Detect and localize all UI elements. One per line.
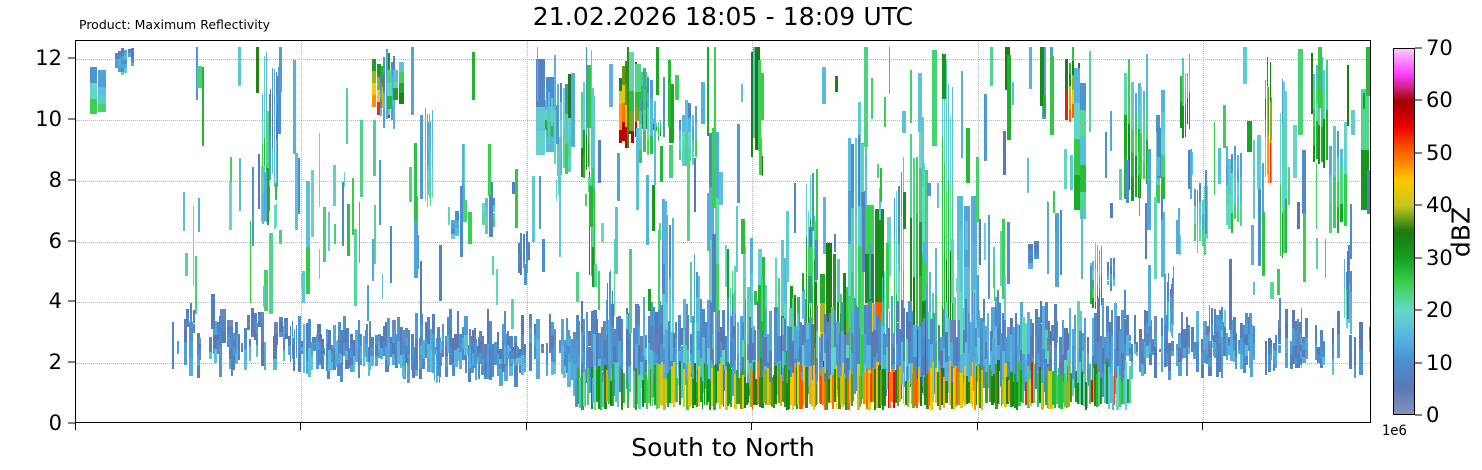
reflectivity-column [816,305,818,331]
reflectivity-column [1100,378,1102,404]
reflectivity-column [244,359,247,369]
reflectivity-column [899,366,901,402]
reflectivity-column [98,87,106,95]
reflectivity-column [1298,49,1303,135]
reflectivity-column [834,234,836,252]
reflectivity-column [1007,55,1011,140]
reflectivity-column [1034,252,1039,256]
reflectivity-column [546,365,548,376]
reflectivity-column [1270,282,1274,299]
reflectivity-column [507,338,510,345]
reflectivity-column [1140,133,1142,179]
reflectivity-column [663,201,667,264]
reflectivity-column [1028,256,1033,262]
reflectivity-column [367,285,368,321]
reflectivity-column [1107,262,1109,267]
reflectivity-column [669,225,672,279]
reflectivity-column [647,124,650,140]
reflectivity-column [822,67,826,104]
reflectivity-column [614,239,616,315]
reflectivity-column [264,172,267,221]
reflectivity-column [514,376,518,386]
reflectivity-column [335,354,337,367]
reflectivity-column [333,165,336,206]
reflectivity-column [1074,103,1079,139]
reflectivity-column [1359,349,1362,375]
reflectivity-column [279,317,283,322]
reflectivity-column [386,49,388,72]
reflectivity-column [457,311,459,324]
reflectivity-column [684,299,686,329]
reflectivity-column [568,330,570,338]
reflectivity-column [258,324,261,327]
reflectivity-column [1271,119,1272,140]
reflectivity-column [548,92,550,118]
reflectivity-column [546,354,548,365]
reflectivity-column [1161,133,1165,155]
reflectivity-column [283,326,285,338]
reflectivity-column [1171,346,1175,351]
reflectivity-column [554,329,556,340]
reflectivity-column [298,353,300,372]
reflectivity-column [663,77,666,137]
reflectivity-column [1234,190,1236,205]
reflectivity-column [402,366,405,378]
reflectivity-column [311,356,314,370]
reflectivity-column [239,158,241,211]
reflectivity-column [762,156,763,176]
reflectivity-column [1168,371,1170,380]
reflectivity-column [279,230,282,244]
reflectivity-column [293,346,295,354]
y-tick-mark [68,119,75,120]
reflectivity-column [635,64,641,78]
reflectivity-column [932,293,934,316]
reflectivity-column [1034,245,1039,249]
reflectivity-column [189,358,193,376]
reflectivity-column [1297,202,1300,229]
reflectivity-column [121,68,124,72]
reflectivity-column [675,75,679,100]
reflectivity-column [1065,90,1067,120]
reflectivity-column [1113,258,1115,265]
reflectivity-column [219,316,222,347]
reflectivity-column [1129,335,1132,341]
reflectivity-column [1322,357,1324,365]
reflectivity-column [264,270,268,311]
reflectivity-column [810,175,811,220]
reflectivity-column [1157,157,1159,175]
reflectivity-column [184,353,187,364]
reflectivity-column [601,223,604,242]
reflectivity-column [1234,160,1236,175]
reflectivity-column [1326,110,1328,160]
reflectivity-column [551,107,553,116]
reflectivity-column [115,59,117,62]
reflectivity-column [1234,146,1236,161]
reflectivity-column [858,135,860,206]
reflectivity-column [311,342,314,356]
reflectivity-column [445,356,448,366]
reflectivity-column [1069,110,1071,122]
reflectivity-column [679,150,682,160]
reflectivity-column [449,309,451,328]
reflectivity-column [244,349,247,359]
reflectivity-column [916,272,918,329]
reflectivity-column [1237,182,1239,196]
reflectivity-column [1257,135,1261,189]
reflectivity-column [1229,259,1233,331]
reflectivity-column [1208,358,1211,367]
reflectivity-column [365,330,368,343]
reflectivity-column [737,124,739,203]
reflectivity-column [619,117,621,130]
reflectivity-column [405,328,408,337]
reflectivity-column [802,289,805,319]
reflectivity-column [775,258,778,301]
reflectivity-column [1320,330,1323,339]
reflectivity-column [442,324,444,332]
reflectivity-column [1337,131,1340,156]
reflectivity-column [1305,338,1308,358]
reflectivity-column [1131,129,1134,153]
reflectivity-column [695,123,698,140]
reflectivity-column [551,117,553,126]
reflectivity-column [910,70,912,123]
reflectivity-column [754,291,758,305]
reflectivity-column [619,91,621,104]
reflectivity-column [615,207,618,274]
reflectivity-column [965,221,968,250]
reflectivity-column [586,312,589,330]
reflectivity-column [1370,139,1371,164]
reflectivity-column [1347,65,1350,126]
reflectivity-column [1113,279,1115,286]
reflectivity-column [1060,210,1062,275]
reflectivity-column [984,223,986,260]
reflectivity-column [251,323,254,337]
reflectivity-column [1226,146,1228,166]
reflectivity-column [692,140,695,152]
reflectivity-column [1110,282,1112,290]
reflectivity-column [1070,155,1073,190]
reflectivity-column [247,322,250,326]
reflectivity-column [551,126,553,135]
x-axis-title: South to North [75,433,1371,462]
reflectivity-column [199,344,201,350]
reflectivity-column [1285,91,1286,145]
reflectivity-column [932,362,934,403]
reflectivity-column [1251,225,1254,265]
reflectivity-column [903,192,906,229]
reflectivity-column [288,346,291,355]
reflectivity-column [554,352,556,363]
reflectivity-column [919,222,921,276]
reflectivity-column [1208,341,1211,350]
reflectivity-column [485,198,488,207]
reflectivity-column [935,248,937,295]
reflectivity-column [229,182,232,230]
reflectivity-column [1045,302,1048,330]
reflectivity-column [668,60,672,127]
reflectivity-column [1235,357,1237,369]
reflectivity-column [918,73,922,132]
reflectivity-column [372,95,376,107]
reflectivity-column [1189,110,1190,129]
reflectivity-column [524,264,527,286]
reflectivity-column [414,143,416,221]
reflectivity-column [622,66,624,85]
reflectivity-column [504,311,506,329]
reflectivity-column [419,369,422,379]
reflectivity-column [679,120,682,130]
reflectivity-column [587,65,591,128]
reflectivity-column [1216,315,1220,330]
reflectivity-column [370,347,374,356]
reflectivity-column [1135,114,1138,135]
reflectivity-column [258,312,261,315]
reflectivity-column [464,335,467,354]
reflectivity-column [1003,131,1006,176]
reflectivity-column [264,356,267,370]
reflectivity-column [811,324,813,359]
reflectivity-column [647,77,650,93]
reflectivity-column [1332,359,1334,375]
reflectivity-column [288,336,291,345]
reflectivity-column [612,364,614,406]
reflectivity-column [1134,315,1137,325]
reflectivity-column [359,202,360,264]
reflectivity-column [1271,97,1272,118]
reflectivity-column [464,316,467,335]
reflectivity-column [1197,240,1199,253]
reflectivity-column [1369,339,1371,352]
reflectivity-column [98,78,106,86]
reflectivity-column [1208,349,1211,358]
reflectivity-column [496,269,499,305]
reflectivity-column [837,259,840,302]
reflectivity-column [115,53,117,56]
reflectivity-column [529,328,532,342]
reflectivity-column [1154,316,1157,332]
reflectivity-column [455,211,458,219]
reflectivity-column [1231,213,1233,233]
reflectivity-column [1326,60,1328,110]
x-tick-mark [75,423,76,430]
reflectivity-column [251,308,254,322]
reflectivity-column [643,110,646,131]
reflectivity-column [685,100,688,133]
reflectivity-column [1154,332,1157,348]
reflectivity-column [1149,354,1152,365]
reflectivity-column [994,261,996,301]
reflectivity-column [1332,328,1334,344]
reflectivity-column [1329,146,1332,175]
product-label: Product: Maximum Reflectivity [79,17,270,32]
reflectivity-column [981,370,983,410]
reflectivity-column [195,256,196,314]
reflectivity-column [619,130,621,143]
reflectivity-column [1110,274,1112,282]
y-tick-mark [68,301,75,302]
reflectivity-column [1113,272,1115,279]
reflectivity-column [643,131,646,152]
reflectivity-column [399,83,404,93]
reflectivity-column [923,242,926,263]
reflectivity-column [1221,357,1224,378]
reflectivity-column [1140,87,1142,133]
reflectivity-column [1126,315,1129,335]
reflectivity-column [1322,341,1324,349]
reflectivity-column [902,111,906,133]
reflectivity-column [1350,313,1352,334]
reflectivity-column [1370,115,1371,140]
reflectivity-column [701,82,705,124]
reflectivity-column [565,114,567,144]
reflectivity-column [199,349,201,355]
reflectivity-column [539,176,541,229]
reflectivity-column [556,105,559,144]
reflectivity-column [1065,59,1067,89]
reflectivity-column [209,344,212,351]
reflectivity-column [619,78,621,91]
reflectivity-column [1234,204,1236,219]
reflectivity-column [1074,139,1079,175]
reflectivity-column [379,160,381,225]
reflectivity-column [432,353,435,373]
colorbar-tick-mark [1415,257,1422,258]
reflectivity-column [258,315,261,318]
reflectivity-column [1080,110,1085,137]
reflectivity-column [283,338,285,350]
reflectivity-column [1161,177,1165,199]
reflectivity-column [808,247,811,275]
reflectivity-column [565,84,567,114]
reflectivity-column [479,331,481,342]
reflectivity-column [1189,73,1190,92]
reflectivity-column [794,183,795,234]
reflectivity-column [820,274,826,303]
reflectivity-column [621,319,624,352]
reflectivity-column [565,144,567,174]
x-axis-exponent-label: 1e6 [1382,423,1407,439]
reflectivity-column [1131,362,1133,379]
reflectivity-column [786,211,789,282]
reflectivity-column [1146,54,1148,97]
reflectivity-column [393,94,398,100]
reflectivity-column [594,96,595,189]
reflectivity-column [1267,57,1268,87]
reflectivity-column [343,316,346,329]
reflectivity-column [1107,267,1109,272]
reflectivity-column [193,314,196,319]
reflectivity-column [1285,338,1288,353]
reflectivity-column [382,274,383,299]
reflectivity-column [587,368,590,406]
reflectivity-column [805,367,808,408]
reflectivity-column [551,98,553,107]
reflectivity-column [658,136,659,141]
x-tick-mark [526,423,527,430]
y-tick-label: 2 [49,350,62,374]
reflectivity-column [554,55,556,109]
reflectivity-column [293,363,295,371]
reflectivity-column [1135,156,1138,177]
reflectivity-column [387,96,392,109]
reflectivity-column [896,301,899,322]
reflectivity-column [1069,74,1071,86]
reflectivity-column [199,355,201,361]
reflectivity-column [252,167,254,246]
reflectivity-column [1233,317,1236,328]
reflectivity-column [1182,58,1183,74]
reflectivity-column [1208,367,1211,376]
reflectivity-column [643,297,645,327]
reflectivity-column [1224,310,1226,327]
reflectivity-column [202,67,205,146]
reflectivity-column [1228,194,1230,229]
reflectivity-column [1344,122,1347,174]
reflectivity-column [639,137,642,150]
reflectivity-column [942,54,946,99]
reflectivity-column [342,182,344,246]
reflectivity-column [451,224,454,229]
reflectivity-column [1206,326,1209,335]
reflectivity-column [848,244,851,297]
reflectivity-column [1007,222,1010,284]
reflectivity-column [529,343,532,357]
reflectivity-column [660,124,661,128]
reflectivity-column [1110,266,1112,274]
reflectivity-column [835,76,839,91]
reflectivity-column [1228,159,1230,194]
reflectivity-column [932,50,937,146]
reflectivity-column [1369,327,1371,340]
reflectivity-column [227,320,233,327]
reflectivity-column [988,215,991,299]
reflectivity-column [1278,336,1282,344]
reflectivity-column [1124,73,1127,115]
reflectivity-column [916,214,918,271]
reflectivity-column [1316,238,1318,269]
reflectivity-column [1033,364,1035,402]
reflectivity-column [1350,292,1352,313]
reflectivity-column [660,120,661,124]
reflectivity-column [623,373,625,403]
reflectivity-column [1080,165,1085,192]
x-tick-mark [977,423,978,430]
reflectivity-column [131,55,134,59]
reflectivity-column [172,346,175,370]
reflectivity-column [855,221,858,304]
reflectivity-column [273,348,276,359]
reflectivity-column [1129,366,1131,403]
reflectivity-column [177,348,179,355]
reflectivity-column [532,176,535,242]
reflectivity-column [1135,135,1138,156]
reflectivity-column [871,78,873,120]
reflectivity-column [937,183,939,209]
reflectivity-column [585,194,587,206]
reflectivity-column [1277,269,1280,295]
reflectivity-column [1253,140,1255,219]
reflectivity-column [545,100,547,110]
reflectivity-column [420,261,422,315]
plot-area[interactable] [75,40,1371,423]
y-tick-label: 4 [49,289,62,313]
reflectivity-column [1054,304,1056,348]
reflectivity-column [284,318,288,323]
